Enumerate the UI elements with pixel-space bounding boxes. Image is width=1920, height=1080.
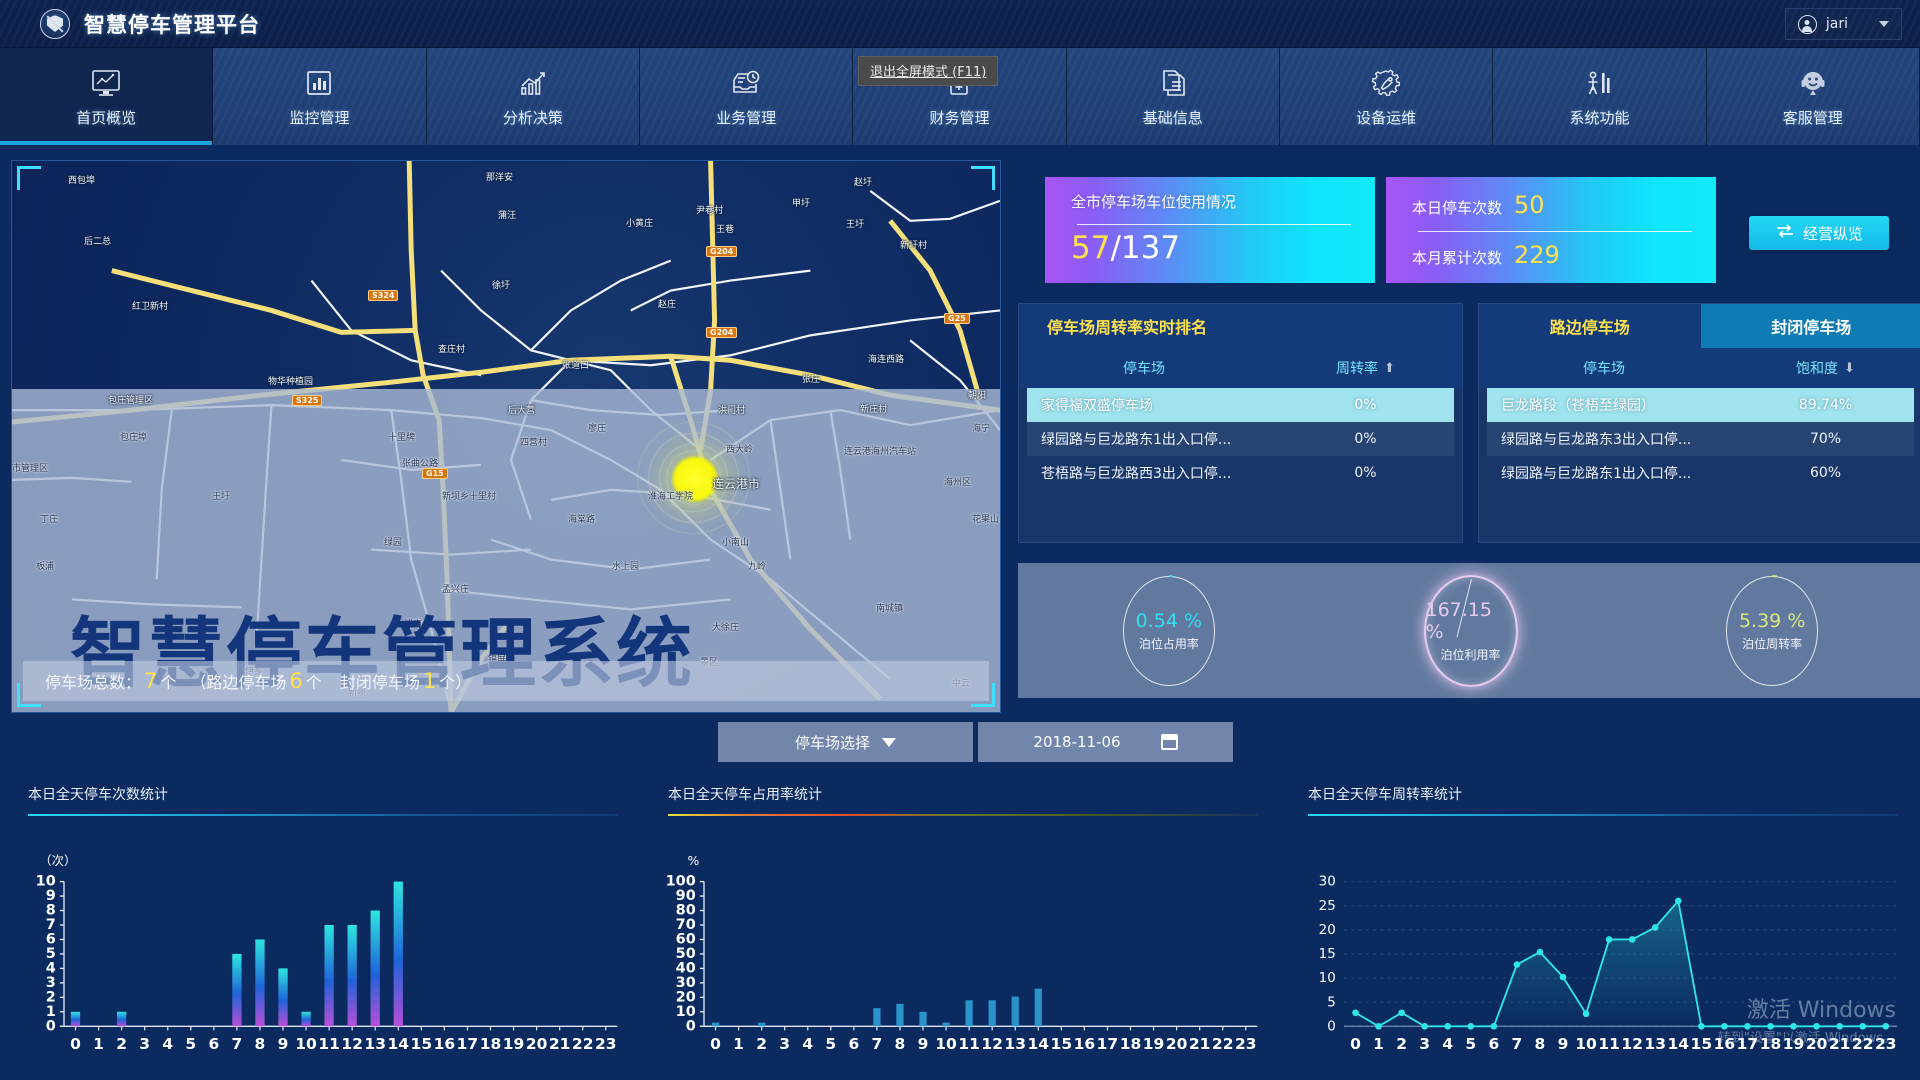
- svg-text:30: 30: [676, 975, 696, 991]
- table-row[interactable]: 绿园路与巨龙路东1出入口停...60%: [1487, 456, 1914, 490]
- svg-text:22: 22: [1852, 1035, 1874, 1053]
- svg-text:10: 10: [676, 1004, 696, 1020]
- svg-text:23: 23: [1875, 1035, 1897, 1053]
- svg-text:18: 18: [480, 1035, 502, 1053]
- svg-text:16: 16: [1074, 1035, 1096, 1053]
- kpi-used: 57: [1071, 230, 1110, 266]
- gauge-label: 泊位利用率: [1440, 646, 1500, 663]
- svg-text:2: 2: [1396, 1035, 1407, 1053]
- row-name: 巨龙路段（苍梧至绿园）: [1487, 395, 1737, 415]
- svg-text:9: 9: [46, 888, 56, 904]
- nav-label: 基础信息: [1143, 107, 1203, 128]
- svg-text:3: 3: [1419, 1035, 1430, 1053]
- svg-text:18: 18: [1760, 1035, 1782, 1053]
- map-place-label: 新圩村: [900, 238, 927, 251]
- svg-text:2: 2: [46, 989, 56, 1005]
- map-place-label: 尹巷村: [696, 203, 723, 216]
- nav-label: 分析决策: [503, 107, 563, 128]
- svg-text:6: 6: [1488, 1035, 1499, 1053]
- map-route-shield: G204: [706, 246, 737, 257]
- nav-label: 客服管理: [1783, 107, 1843, 128]
- map-place-label: 海棠路: [568, 512, 595, 525]
- summary-unit: 个）: [439, 669, 471, 693]
- dashboard-root: 智慧停车管理平台 jari 首页概览: [0, 0, 1920, 1080]
- map-place-label: 市管理区: [12, 461, 48, 474]
- column-value: 饱和度: [1796, 358, 1838, 378]
- svg-text:21: 21: [1829, 1035, 1851, 1053]
- monitor-chart-icon: [89, 66, 123, 100]
- svg-text:4: 4: [1442, 1035, 1453, 1053]
- gauge-value: 5.39 %: [1739, 610, 1805, 632]
- svg-text:0: 0: [686, 1018, 696, 1034]
- svg-text:5: 5: [46, 946, 56, 962]
- chart-canvas: %010203040506070809010001234567891011121…: [640, 770, 1280, 1080]
- map-place-label: 那洋安: [486, 170, 513, 183]
- parking-select[interactable]: 停车场选择: [718, 722, 973, 762]
- svg-text:7: 7: [872, 1035, 883, 1053]
- row-value: 0%: [1277, 397, 1454, 413]
- svg-text:3: 3: [46, 975, 56, 991]
- charts-row: 本日全天停车次数统计 （次）01234567891001234567891011…: [0, 770, 1920, 1080]
- map-place-label: 王圩: [846, 217, 864, 230]
- gauge-ring: 167.15 % 泊位利用率: [1425, 576, 1517, 686]
- svg-text:8: 8: [1535, 1035, 1546, 1053]
- svg-text:7: 7: [46, 917, 56, 933]
- nav-item-customer-service[interactable]: 客服管理: [1707, 48, 1920, 145]
- svg-text:20: 20: [676, 989, 696, 1005]
- map-place-label: 新庄村: [860, 402, 887, 415]
- svg-text:13: 13: [1004, 1035, 1026, 1053]
- chart-canvas: （次）0123456789100123456789101112131415161…: [0, 770, 640, 1080]
- parking-summary-bar: 停车场总数： 7 个 （路边停车场 6 个 封闭停车场 1 个）: [23, 661, 989, 701]
- gauge-label: 泊位周转率: [1742, 635, 1802, 652]
- row-value: 70%: [1737, 431, 1914, 447]
- map-place-label: 小南山: [722, 535, 749, 548]
- map-place-label: 甲圩: [792, 196, 810, 209]
- map-place-label: 小黄庄: [626, 216, 653, 229]
- map-place-label: 赵圩: [854, 175, 872, 188]
- map-place-label: 赵庄: [658, 297, 676, 310]
- column-name: 停车场: [1019, 358, 1269, 378]
- svg-text:14: 14: [388, 1035, 410, 1053]
- nav-label: 监控管理: [289, 107, 349, 128]
- svg-text:0: 0: [1350, 1035, 1361, 1053]
- map-place-label: 大徐庄: [712, 620, 739, 633]
- kpi-total: 137: [1121, 230, 1180, 266]
- svg-text:10: 10: [295, 1035, 317, 1053]
- tab-roadside[interactable]: 路边停车场: [1479, 304, 1701, 348]
- map-place-label: 张曲公路: [402, 456, 438, 469]
- svg-text:（次）: （次）: [39, 853, 76, 868]
- map-route-shield: G204: [706, 327, 737, 338]
- turnover-rank-panel: 停车场周转率实时排名 停车场 周转率 ⬆ 家得福双盛停车场0%绿园路与巨龙路东1…: [1018, 303, 1463, 543]
- map-place-label: 海宁: [972, 421, 990, 434]
- nav-item-analysis[interactable]: 分析决策: [427, 48, 640, 145]
- map-place-label: 淮海工学院: [648, 489, 693, 502]
- svg-text:8: 8: [46, 903, 56, 919]
- row-name: 苍梧路与巨龙路西3出入口停...: [1027, 463, 1277, 483]
- svg-text:1: 1: [1373, 1035, 1384, 1053]
- svg-text:19: 19: [503, 1035, 525, 1053]
- map-place-label: 蒲汪: [498, 208, 516, 221]
- table-body: 家得福双盛停车场0%绿园路与巨龙路东1出入口停...0%苍梧路与巨龙路西3出入口…: [1019, 388, 1462, 490]
- row-name: 绿园路与巨龙路东1出入口停...: [1487, 463, 1737, 483]
- map-place-label: 孟兴庄: [442, 582, 469, 595]
- summary-unit: 个: [306, 669, 322, 693]
- svg-text:13: 13: [364, 1035, 386, 1053]
- svg-text:15: 15: [1691, 1035, 1713, 1053]
- svg-text:2: 2: [756, 1035, 767, 1053]
- svg-text:18: 18: [1120, 1035, 1142, 1053]
- svg-text:17: 17: [457, 1035, 479, 1053]
- calendar-icon: [1161, 734, 1178, 750]
- map-place-label: 南城镇: [876, 601, 903, 614]
- gauge-turnover: 5.39 % 泊位周转率: [1621, 563, 1920, 698]
- kpi-row-month: 本月累计次数 229: [1412, 241, 1716, 269]
- user-menu[interactable]: jari: [1785, 8, 1902, 40]
- map-place-label: 西大岭: [726, 442, 753, 455]
- svg-text:0: 0: [710, 1035, 721, 1053]
- gauge-utilization: 167.15 % 泊位利用率: [1320, 563, 1622, 698]
- nav-item-monitoring[interactable]: 监控管理: [213, 48, 426, 145]
- map-place-label: 板浦: [36, 559, 54, 572]
- kpi-card-parking-counts: 本日停车次数 50 本月累计次数 229: [1386, 177, 1716, 283]
- map-place-label: 查庄村: [438, 342, 465, 355]
- trend-bars-icon: [516, 66, 550, 100]
- documents-icon: [1156, 66, 1190, 100]
- svg-text:10: 10: [1575, 1035, 1597, 1053]
- headset-smile-icon: [1796, 66, 1830, 100]
- row-value: 0%: [1277, 431, 1454, 447]
- map-place-label: 海州区: [944, 475, 971, 488]
- svg-text:21: 21: [1189, 1035, 1211, 1053]
- fullscreen-tooltip: 退出全屏模式 (F11): [858, 56, 998, 86]
- flow-arrows-icon: [1775, 224, 1795, 242]
- svg-text:19: 19: [1143, 1035, 1165, 1053]
- svg-text:0: 0: [46, 1018, 56, 1034]
- svg-text:22: 22: [1212, 1035, 1234, 1053]
- summary-roadside-count: 6: [286, 669, 305, 693]
- nav-label: 首页概览: [76, 107, 136, 128]
- kpi-card-occupancy: 全市停车场车位使用情况 57/137: [1045, 177, 1375, 283]
- svg-text:15: 15: [1319, 947, 1336, 962]
- svg-text:5: 5: [825, 1035, 836, 1053]
- chevron-down-icon: [882, 738, 896, 747]
- arrow-down-icon[interactable]: ⬇: [1844, 361, 1855, 376]
- svg-text:19: 19: [1783, 1035, 1805, 1053]
- gauge-row: 0.54 % 泊位占用率 167.15 % 泊位利用率 5.39 % 泊位周转率: [1018, 563, 1920, 698]
- svg-text:10: 10: [935, 1035, 957, 1053]
- row-name: 绿园路与巨龙路东1出入口停...: [1027, 429, 1277, 449]
- arrow-up-icon[interactable]: ⬆: [1384, 361, 1395, 376]
- people-icon: [1582, 66, 1616, 100]
- svg-text:6: 6: [208, 1035, 219, 1053]
- nav-item-device-maintenance[interactable]: 设备运维: [1280, 48, 1493, 145]
- map-route-shield: S324: [368, 290, 398, 301]
- svg-text:100: 100: [666, 874, 696, 890]
- summary-total: 7: [141, 669, 160, 693]
- map-place-label: 九岭: [748, 559, 766, 572]
- svg-text:12: 12: [981, 1035, 1003, 1053]
- svg-text:1: 1: [733, 1035, 744, 1053]
- map-place-label: 张道口: [562, 358, 589, 371]
- svg-text:30: 30: [1319, 875, 1336, 890]
- panel-title: 停车场周转率实时排名: [1019, 304, 1462, 348]
- table-body: 巨龙路段（苍梧至绿园）89.74%绿园路与巨龙路东3出入口停...70%绿园路与…: [1479, 388, 1920, 490]
- svg-text:8: 8: [255, 1035, 266, 1053]
- svg-text:6: 6: [46, 932, 56, 948]
- svg-text:23: 23: [595, 1035, 617, 1053]
- date-value: 2018-11-06: [1033, 733, 1120, 751]
- map-place-label: 包庄埠: [120, 430, 147, 443]
- kpi-value: 229: [1514, 241, 1560, 269]
- map-place-label: 王圩: [212, 489, 230, 502]
- nav-label: 设备运维: [1356, 107, 1416, 128]
- svg-text:3: 3: [139, 1035, 150, 1053]
- kpi-title: 全市停车场车位使用情况: [1071, 191, 1375, 212]
- summary-closed-label: 封闭停车场: [340, 669, 420, 693]
- map-place-label: 丁庄: [40, 512, 58, 525]
- map-place-label: 花果山: [972, 512, 999, 525]
- svg-text:70: 70: [676, 917, 696, 933]
- map-place-label: 张庄: [802, 372, 820, 385]
- inbox-clock-icon: [729, 66, 763, 100]
- map-place-label: 连云港海州汽车站: [844, 444, 916, 457]
- nav-item-home[interactable]: 首页概览: [0, 48, 213, 145]
- map-panel[interactable]: 连云港市 西包埠那洋安赵圩甲圩尹巷村蒲汪小黄庄王巷王圩新圩村后二总徐圩赵庄红卫新…: [11, 160, 1001, 713]
- svg-text:16: 16: [434, 1035, 456, 1053]
- svg-text:0: 0: [1327, 1019, 1336, 1034]
- summary-roadside-label: （路边停车场: [190, 669, 286, 693]
- divider: [1077, 224, 1351, 225]
- kpi-slash: /: [1110, 230, 1120, 266]
- chart-occupancy-rate: 本日全天停车占用率统计 %010203040506070809010001234…: [640, 770, 1280, 1080]
- chevron-down-icon[interactable]: [1879, 21, 1889, 27]
- svg-text:5: 5: [1327, 995, 1336, 1010]
- svg-text:11: 11: [1598, 1035, 1620, 1053]
- row-value: 89.74%: [1737, 397, 1914, 413]
- svg-text:5: 5: [1465, 1035, 1476, 1053]
- row-name: 家得福双盛停车场: [1027, 395, 1277, 415]
- map-route-shield: S325: [292, 395, 322, 406]
- tab-closed[interactable]: 封闭停车场: [1701, 304, 1920, 348]
- gauge-occupancy: 0.54 % 泊位占用率: [1018, 563, 1320, 698]
- chart-canvas: 0510152025300123456789101112131415161718…: [1280, 770, 1920, 1080]
- gauge-ring: 0.54 % 泊位占用率: [1123, 576, 1215, 686]
- filter-bar: 停车场选择 2018-11-06: [11, 718, 1911, 766]
- svg-text:12: 12: [1621, 1035, 1643, 1053]
- saturation-rank-panel: 路边停车场 封闭停车场 停车场 饱和度 ⬇ 巨龙路段（苍梧至绿园）89.74%绿…: [1478, 303, 1920, 543]
- svg-text:23: 23: [1235, 1035, 1257, 1053]
- app-header: 智慧停车管理平台 jari: [0, 0, 1920, 48]
- summary-unit: 个: [160, 669, 176, 693]
- svg-text:10: 10: [36, 874, 56, 890]
- svg-text:7: 7: [1512, 1035, 1523, 1053]
- svg-text:9: 9: [918, 1035, 929, 1053]
- map-place-label: 后二总: [84, 234, 111, 247]
- svg-text:90: 90: [676, 888, 696, 904]
- nav-label: 系统功能: [1569, 107, 1629, 128]
- map-place-label: 后大营: [508, 403, 535, 416]
- svg-text:50: 50: [676, 946, 696, 962]
- svg-text:20: 20: [1166, 1035, 1188, 1053]
- map-place-label: 新坝乡十里村: [442, 489, 496, 502]
- map-place-label: 十里牌: [388, 430, 415, 443]
- map-place-label: 红卫新村: [132, 299, 168, 312]
- gear-wrench-icon: [1369, 66, 1403, 100]
- corner-decoration: [971, 166, 995, 190]
- svg-text:14: 14: [1668, 1035, 1690, 1053]
- map-place-label: 包庄管理区: [108, 393, 153, 406]
- table-row[interactable]: 家得福双盛停车场0%: [1027, 388, 1454, 422]
- user-name: jari: [1826, 16, 1848, 32]
- svg-text:1: 1: [46, 1004, 56, 1020]
- svg-text:4: 4: [46, 961, 56, 977]
- svg-text:40: 40: [676, 961, 696, 977]
- svg-text:3: 3: [779, 1035, 790, 1053]
- svg-text:20: 20: [526, 1035, 548, 1053]
- map-place-label: 海连西路: [868, 352, 904, 365]
- svg-text:80: 80: [676, 903, 696, 919]
- summary-prefix: 停车场总数：: [45, 669, 141, 693]
- row-value: 60%: [1737, 465, 1914, 481]
- gauge-value: 167.15 %: [1426, 599, 1516, 643]
- svg-text:1: 1: [93, 1035, 104, 1053]
- nav-item-business[interactable]: 业务管理: [640, 48, 853, 145]
- svg-text:25: 25: [1319, 899, 1336, 914]
- kpi-value: 57/137: [1071, 233, 1375, 264]
- kpi-row-today: 本日停车次数 50: [1412, 191, 1716, 219]
- map-place-label: 绿园: [384, 535, 402, 548]
- nav-label: 财务管理: [929, 107, 989, 128]
- svg-text:8: 8: [895, 1035, 906, 1053]
- svg-text:11: 11: [318, 1035, 340, 1053]
- svg-text:2: 2: [116, 1035, 127, 1053]
- column-value: 周转率: [1336, 358, 1378, 378]
- map-place-label: 廖庄: [588, 421, 606, 434]
- map-route-shield: G25: [944, 313, 970, 324]
- gauge-ring: 5.39 % 泊位周转率: [1726, 576, 1818, 686]
- svg-text:22: 22: [572, 1035, 594, 1053]
- map-place-label: 朝阳: [968, 388, 986, 401]
- svg-text:20: 20: [1319, 923, 1336, 938]
- kpi-label: 本月累计次数: [1412, 247, 1502, 268]
- svg-text:5: 5: [185, 1035, 196, 1053]
- chart-parking-count: 本日全天停车次数统计 （次）01234567891001234567891011…: [0, 770, 640, 1080]
- kpi-value: 50: [1514, 191, 1545, 219]
- table-row[interactable]: 绿园路与巨龙路东3出入口停...70%: [1487, 422, 1914, 456]
- svg-text:7: 7: [232, 1035, 243, 1053]
- select-label: 停车场选择: [795, 732, 870, 753]
- nav-item-basic-info[interactable]: 基础信息: [1067, 48, 1280, 145]
- gauge-label: 泊位占用率: [1139, 635, 1199, 652]
- divider: [1418, 231, 1692, 232]
- button-label: 经营纵览: [1803, 223, 1863, 244]
- column-name: 停车场: [1479, 358, 1729, 378]
- business-overview-button[interactable]: 经营纵览: [1749, 216, 1889, 250]
- chart-turnover-rate: 本日全天停车周转率统计 0510152025300123456789101112…: [1280, 770, 1920, 1080]
- rank-tabs: 路边停车场 封闭停车场: [1479, 304, 1920, 348]
- svg-text:10: 10: [1319, 971, 1336, 986]
- map-place-label: 洪门村: [718, 403, 745, 416]
- row-name: 绿园路与巨龙路东3出入口停...: [1487, 429, 1737, 449]
- map-city-label: 连云港市: [712, 475, 760, 492]
- svg-text:13: 13: [1644, 1035, 1666, 1053]
- page-title: 智慧停车管理平台: [84, 9, 260, 39]
- svg-text:9: 9: [1558, 1035, 1569, 1053]
- date-picker[interactable]: 2018-11-06: [978, 722, 1233, 762]
- summary-closed-count: 1: [420, 669, 439, 693]
- svg-text:20: 20: [1806, 1035, 1828, 1053]
- svg-text:0: 0: [70, 1035, 81, 1053]
- map-place-label: 徐圩: [492, 278, 510, 291]
- svg-text:12: 12: [341, 1035, 363, 1053]
- svg-text:9: 9: [278, 1035, 289, 1053]
- svg-text:6: 6: [848, 1035, 859, 1053]
- police-badge-icon: [40, 9, 70, 39]
- corner-decoration: [17, 166, 41, 190]
- map-place-label: 王巷: [716, 222, 734, 235]
- svg-text:4: 4: [162, 1035, 173, 1053]
- svg-text:15: 15: [411, 1035, 433, 1053]
- table-header: 停车场 饱和度 ⬇: [1479, 348, 1920, 388]
- svg-text:17: 17: [1737, 1035, 1759, 1053]
- nav-label: 业务管理: [716, 107, 776, 128]
- gauge-value: 0.54 %: [1136, 610, 1202, 632]
- svg-text:60: 60: [676, 932, 696, 948]
- map-place-label: 四营村: [520, 435, 547, 448]
- kpi-label: 本日停车次数: [1412, 197, 1502, 218]
- bar-chart-box-icon: [302, 66, 336, 100]
- svg-text:17: 17: [1097, 1035, 1119, 1053]
- svg-text:11: 11: [958, 1035, 980, 1053]
- svg-text:16: 16: [1714, 1035, 1736, 1053]
- svg-text:4: 4: [802, 1035, 813, 1053]
- svg-text:%: %: [687, 853, 699, 868]
- nav-item-system[interactable]: 系统功能: [1493, 48, 1706, 145]
- map-route-shield: G15: [422, 468, 448, 479]
- table-row[interactable]: 绿园路与巨龙路东1出入口停...0%: [1027, 422, 1454, 456]
- row-value: 0%: [1277, 465, 1454, 481]
- user-circle-icon: [1798, 15, 1817, 34]
- table-row[interactable]: 巨龙路段（苍梧至绿园）89.74%: [1487, 388, 1914, 422]
- svg-text:21: 21: [549, 1035, 571, 1053]
- map-place-label: 水上园: [612, 559, 639, 572]
- map-place-label: 物华种植园: [268, 374, 313, 387]
- svg-text:15: 15: [1051, 1035, 1073, 1053]
- svg-text:14: 14: [1028, 1035, 1050, 1053]
- table-header: 停车场 周转率 ⬆: [1019, 348, 1462, 388]
- map-place-label: 西包埠: [68, 173, 95, 186]
- table-row[interactable]: 苍梧路与巨龙路西3出入口停...0%: [1027, 456, 1454, 490]
